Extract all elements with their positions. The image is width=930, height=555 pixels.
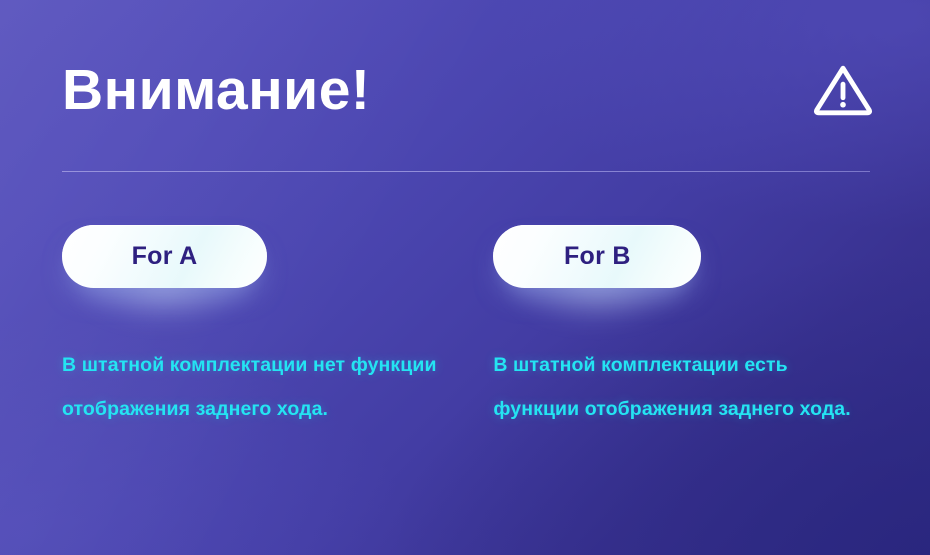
page-title: Внимание! [62,62,370,119]
header-divider [62,171,870,172]
pill-wrapper-b: For B [493,225,701,288]
pill-wrapper-a: For A [62,225,267,288]
warning-triangle-icon [812,59,874,121]
slide-header: Внимание! [62,52,874,128]
for-a-description: В штатной комплектации нет функции отобр… [62,343,442,431]
warning-slide: Внимание! For A В штатной комплектации н… [0,0,930,555]
for-a-button[interactable]: For A [62,225,267,288]
column-for-b: For B В штатной комплектации есть функци… [493,225,890,431]
for-b-description: В штатной комплектации есть функции отоб… [493,343,871,431]
for-b-button[interactable]: For B [493,225,701,288]
column-for-a: For A В штатной комплектации нет функции… [62,225,493,431]
comparison-columns: For A В штатной комплектации нет функции… [62,225,890,431]
